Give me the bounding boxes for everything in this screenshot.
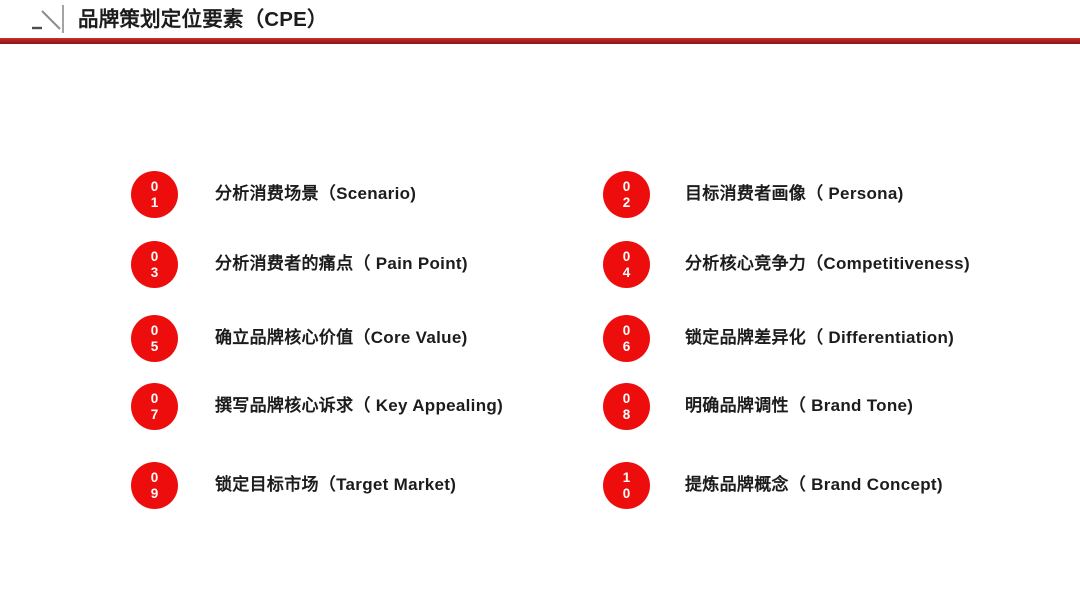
badge-digit-top: 0 [151, 180, 159, 194]
item-label: 分析消费场景（Scenario) [215, 182, 416, 206]
item-label: 目标消费者画像（ Persona) [685, 182, 904, 206]
item-number-badge: 0 9 [131, 462, 178, 509]
badge-digit-top: 1 [623, 471, 631, 485]
item-number-badge: 0 3 [131, 241, 178, 288]
item-label: 提炼品牌概念（ Brand Concept) [685, 473, 943, 497]
brand-logo-mark-icon [30, 4, 78, 34]
badge-digit-top: 0 [151, 471, 159, 485]
list-item[interactable]: 1 0 提炼品牌概念（ Brand Concept) [603, 459, 943, 511]
badge-digit-bottom: 8 [623, 408, 631, 422]
list-item[interactable]: 0 2 目标消费者画像（ Persona) [603, 168, 904, 220]
item-label: 锁定目标市场（Target Market) [215, 473, 456, 497]
badge-digit-top: 0 [151, 324, 159, 338]
badge-digit-bottom: 3 [151, 266, 159, 280]
cpe-elements-list: 0 1 分析消费场景（Scenario) 0 2 目标消费者画像（ Person… [0, 160, 1080, 540]
item-number-badge: 0 6 [603, 315, 650, 362]
item-number-badge: 1 0 [603, 462, 650, 509]
badge-digit-top: 0 [623, 324, 631, 338]
header-divider-rule [0, 38, 1080, 44]
item-label: 确立品牌核心价值（Core Value) [215, 326, 468, 350]
list-item[interactable]: 0 8 明确品牌调性（ Brand Tone) [603, 380, 913, 432]
item-label: 分析消费者的痛点（ Pain Point) [215, 252, 468, 276]
badge-digit-bottom: 2 [623, 196, 631, 210]
item-number-badge: 0 7 [131, 383, 178, 430]
badge-digit-top: 0 [151, 392, 159, 406]
page-title: 品牌策划定位要素（CPE） [78, 6, 328, 34]
badge-digit-top: 0 [623, 250, 631, 264]
slide-root: 品牌策划定位要素（CPE） 0 1 分析消费场景（Scenario) 0 2 目… [0, 0, 1080, 608]
item-label: 分析核心竞争力（Competitiveness) [685, 252, 970, 276]
item-label: 锁定品牌差异化（ Differentiation) [685, 326, 954, 350]
badge-digit-bottom: 4 [623, 266, 631, 280]
list-item[interactable]: 0 3 分析消费者的痛点（ Pain Point) [131, 238, 468, 290]
badge-digit-bottom: 6 [623, 340, 631, 354]
list-item[interactable]: 0 5 确立品牌核心价值（Core Value) [131, 312, 468, 364]
badge-digit-bottom: 9 [151, 487, 159, 501]
list-item[interactable]: 0 7 撰写品牌核心诉求（ Key Appealing) [131, 380, 503, 432]
badge-digit-bottom: 7 [151, 408, 159, 422]
badge-digit-bottom: 5 [151, 340, 159, 354]
list-item[interactable]: 0 4 分析核心竞争力（Competitiveness) [603, 238, 970, 290]
item-number-badge: 0 5 [131, 315, 178, 362]
item-label: 明确品牌调性（ Brand Tone) [685, 394, 913, 418]
badge-digit-bottom: 0 [623, 487, 631, 501]
item-number-badge: 0 2 [603, 171, 650, 218]
list-item[interactable]: 0 1 分析消费场景（Scenario) [131, 168, 416, 220]
item-number-badge: 0 1 [131, 171, 178, 218]
badge-digit-top: 0 [151, 250, 159, 264]
item-number-badge: 0 4 [603, 241, 650, 288]
badge-digit-top: 0 [623, 180, 631, 194]
badge-digit-bottom: 1 [151, 196, 159, 210]
badge-digit-top: 0 [623, 392, 631, 406]
item-label: 撰写品牌核心诉求（ Key Appealing) [215, 394, 503, 418]
list-item[interactable]: 0 9 锁定目标市场（Target Market) [131, 459, 456, 511]
list-item[interactable]: 0 6 锁定品牌差异化（ Differentiation) [603, 312, 954, 364]
item-number-badge: 0 8 [603, 383, 650, 430]
